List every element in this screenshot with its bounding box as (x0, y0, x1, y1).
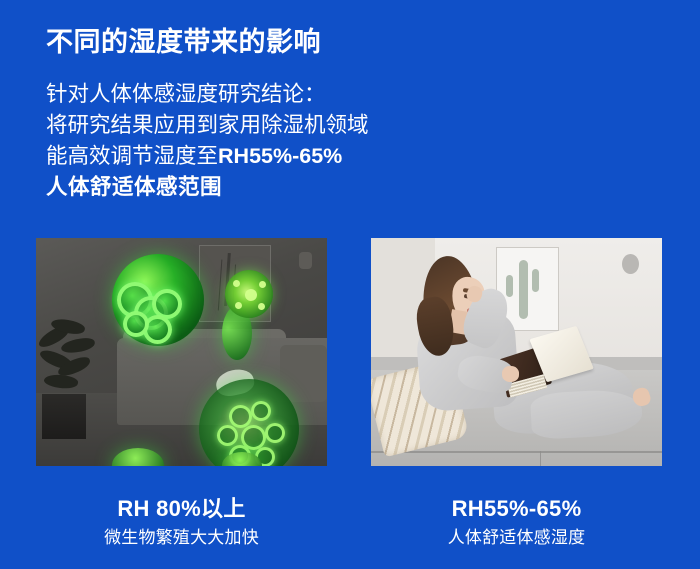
plant-pot (42, 394, 87, 439)
plant-leaf (44, 372, 79, 390)
humidity-infographic: 不同的湿度带来的影响 针对人体体感湿度研究结论： 将研究结果应用到家用除湿机领域… (0, 0, 700, 569)
microbe-cluster-large (112, 254, 204, 346)
caption-high-humidity: RH 80%以上 微生物繁殖大大加快 (36, 494, 327, 552)
microbe-spike (233, 280, 240, 287)
microbe-ring (265, 423, 285, 443)
body-copy: 针对人体体感湿度研究结论： 将研究结果应用到家用除湿机领域 能高效调节湿度至RH… (46, 79, 369, 203)
wall-speaker-icon (299, 252, 312, 269)
microbe-ring (251, 401, 271, 421)
sofa-armrest (280, 345, 327, 402)
body-line-4: 人体舒适体感范围 (46, 172, 369, 203)
caption-comfort-humidity: RH55%-65% 人体舒适体感湿度 (371, 494, 662, 552)
microbe-spike (235, 302, 242, 309)
dim-living-room-scene (36, 238, 327, 466)
woman-reading (371, 238, 662, 466)
body-line-1: 针对人体体感湿度研究结论： (46, 79, 369, 110)
microbe-spike (259, 281, 266, 288)
photo-high-humidity (36, 238, 327, 466)
body-line-3-normal: 能高效调节湿度至 (46, 144, 218, 168)
hand-holding-book (502, 366, 519, 382)
caption-subtitle: 微生物繁殖大大加快 (36, 524, 327, 552)
potted-plant (36, 320, 106, 439)
microbe-cluster-small (225, 270, 273, 318)
caption-title: RH55%-65% (371, 494, 662, 524)
plant-leaf (60, 337, 95, 355)
caption-title: RH 80%以上 (36, 494, 327, 524)
body-line-2: 将研究结果应用到家用除湿机领域 (46, 110, 369, 141)
microbe-core (245, 289, 257, 301)
photo-comfort-humidity (371, 238, 662, 466)
body-line-3: 能高效调节湿度至RH55%-65% (46, 141, 369, 172)
microbe-ring (217, 425, 238, 446)
bright-living-room-scene (371, 238, 662, 466)
page-title: 不同的湿度带来的影响 (46, 20, 321, 59)
lower-legs (530, 388, 643, 439)
microbe-spike (258, 303, 265, 310)
microbe-bump (123, 311, 149, 337)
body-line-3-highlight: RH55%-65% (218, 144, 342, 168)
caption-subtitle: 人体舒适体感湿度 (371, 524, 662, 552)
